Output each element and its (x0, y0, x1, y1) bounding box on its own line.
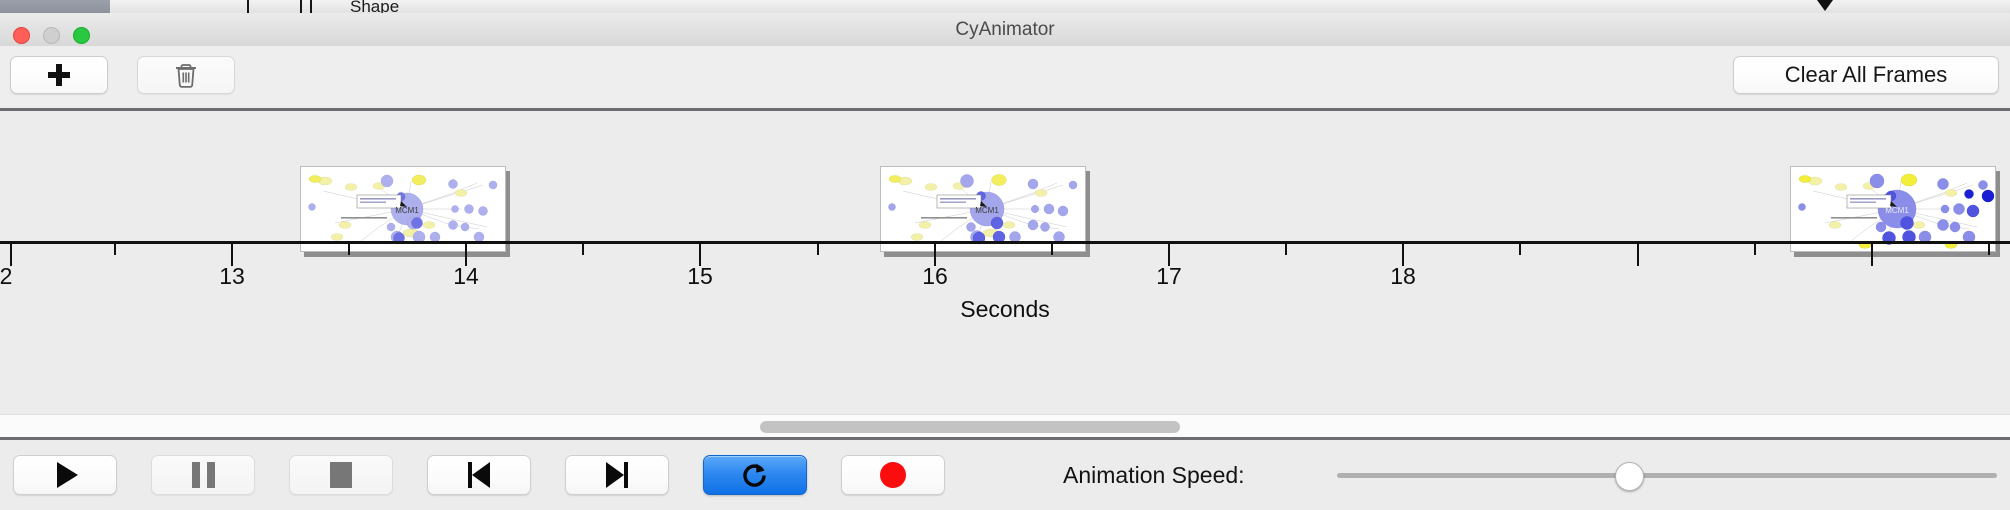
clear-all-frames-label: Clear All Frames (1785, 62, 1948, 88)
prev-frame-button[interactable] (427, 455, 531, 495)
axis-tick-label: 18 (1390, 263, 1416, 290)
record-icon (880, 462, 906, 488)
keyframe-image: MCM1 (300, 166, 506, 252)
next-frame-button[interactable] (565, 455, 669, 495)
stop-button[interactable] (289, 455, 393, 495)
window-title: CyAnimator (0, 13, 2010, 46)
pause-button[interactable] (151, 455, 255, 495)
axis-title: Seconds (0, 296, 2010, 323)
svg-text:MCM1: MCM1 (395, 206, 419, 215)
axis-tick-minor (1519, 244, 1521, 255)
add-frame-button[interactable] (10, 56, 108, 94)
play-icon (57, 462, 78, 488)
plus-icon (48, 64, 70, 86)
clear-all-frames-button[interactable]: Clear All Frames (1733, 56, 1999, 94)
background-cursor-wedge (1817, 0, 1833, 11)
keyframe-image: MCM1 (1790, 166, 1996, 252)
toolbar: Clear All Frames (0, 46, 2010, 111)
axis-tick-label: 2 (0, 263, 12, 290)
skip-back-icon (466, 462, 492, 488)
slider-track (1337, 473, 1997, 478)
background-window-label: Shape (350, 0, 399, 14)
pause-icon (192, 462, 215, 488)
animation-speed-slider[interactable] (1337, 455, 1997, 495)
axis-tick-label: 13 (219, 263, 245, 290)
scrollbar-thumb[interactable] (760, 421, 1180, 433)
skip-forward-icon (604, 462, 630, 488)
loop-icon (740, 460, 770, 490)
delete-frame-button[interactable] (137, 56, 235, 94)
axis-tick-minor (114, 244, 116, 255)
svg-text:MCM1: MCM1 (975, 206, 999, 215)
background-window-strip: Shape (0, 0, 2010, 14)
svg-text:MCM1: MCM1 (1885, 206, 1909, 215)
cyanimator-window: Shape CyAnimator Clear All Frames (0, 0, 2010, 510)
axis-tick-major (1637, 244, 1639, 266)
axis-tick-label: 17 (1156, 263, 1182, 290)
network-thumbnail-icon: MCM1 (881, 167, 1085, 251)
axis-tick-minor (1988, 244, 1990, 255)
record-button[interactable] (841, 455, 945, 495)
trash-icon (173, 61, 199, 89)
slider-thumb[interactable] (1615, 462, 1644, 491)
loop-button[interactable] (703, 455, 807, 495)
title-bar: CyAnimator (0, 13, 2010, 47)
axis-tick-label: 14 (453, 263, 479, 290)
play-button[interactable] (13, 455, 117, 495)
axis-tick-minor (817, 244, 819, 255)
axis-tick-minor (582, 244, 584, 255)
axis-tick-major (1871, 244, 1873, 266)
axis-tick-minor (1754, 244, 1756, 255)
axis-tick-label: 15 (687, 263, 713, 290)
keyframe-image: MCM1 (880, 166, 1086, 252)
timeline-axis (0, 241, 2010, 244)
network-thumbnail-icon: MCM1 (1791, 167, 1995, 251)
network-thumbnail-icon: MCM1 (301, 167, 505, 251)
axis-tick-minor (1051, 244, 1053, 255)
stop-icon (330, 462, 352, 488)
playback-controls: Animation Speed: (0, 443, 2010, 510)
timeline-panel[interactable]: MCM1 (0, 111, 2010, 414)
axis-tick-minor (348, 244, 350, 255)
animation-speed-label: Animation Speed: (1063, 455, 1245, 495)
axis-tick-label: 16 (922, 263, 948, 290)
axis-tick-minor (1285, 244, 1287, 255)
horizontal-scrollbar[interactable] (0, 414, 2010, 440)
